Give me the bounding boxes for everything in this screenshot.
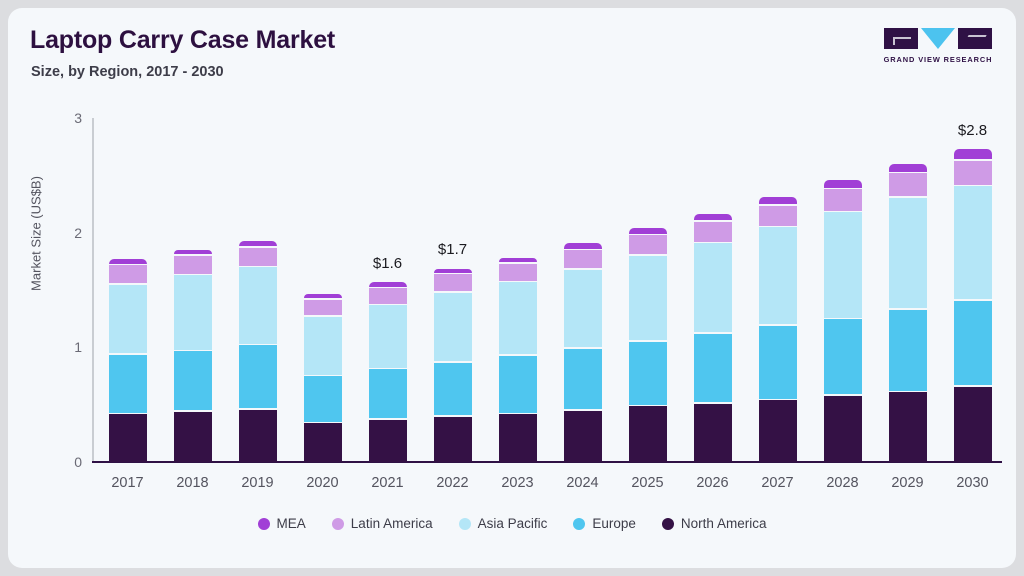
bar-segment[interactable] [369,288,407,304]
x-axis-tick-label: 2030 [938,475,1008,491]
bar-segment[interactable] [629,406,667,462]
bar-segment[interactable] [369,420,407,462]
bar-segment[interactable] [954,387,992,462]
bar-segment[interactable] [109,285,147,353]
bar-segment[interactable] [759,197,797,204]
x-axis-tick-label: 2018 [158,475,228,491]
bar-segment[interactable] [434,417,472,463]
bar-segment[interactable] [629,256,667,341]
y-axis-tick-label: 0 [48,454,82,470]
legend-item[interactable]: North America [662,516,767,531]
bar-segment[interactable] [694,222,732,242]
bar-segment[interactable] [239,267,277,343]
bar-segment[interactable] [564,411,602,462]
legend-label: MEA [277,516,306,531]
bar-segment[interactable] [434,363,472,415]
bar-segment[interactable] [954,186,992,299]
legend-label: Latin America [351,516,433,531]
bar-segment[interactable] [629,228,667,233]
bar-segment[interactable] [824,396,862,462]
bar-segment[interactable] [369,369,407,418]
bar-segment[interactable] [694,243,732,332]
y-axis-title: Market Size (US$B) [29,134,44,334]
bar-segment[interactable] [239,248,277,266]
bar-segment[interactable] [824,319,862,394]
bar-segment[interactable] [434,293,472,361]
x-axis-tick-label: 2026 [678,475,748,491]
bar-segment[interactable] [759,206,797,226]
bar-segment[interactable] [889,198,927,309]
bar-segment[interactable] [499,356,537,413]
legend-swatch-icon [258,518,270,530]
x-axis-tick-label: 2024 [548,475,618,491]
legend-item[interactable]: MEA [258,516,306,531]
x-axis-tick-label: 2020 [288,475,358,491]
bar-segment[interactable] [109,265,147,283]
plot-area: $1.6$1.7$2.8 [92,118,1002,462]
bar-segment[interactable] [239,241,277,246]
bar-segment[interactable] [304,317,342,375]
bar-segment[interactable] [954,301,992,386]
bar-segment[interactable] [499,258,537,262]
x-axis-tick-label: 2019 [223,475,293,491]
x-axis-tick-label: 2022 [418,475,488,491]
bar-segment[interactable] [109,355,147,413]
legend-item[interactable]: Europe [573,516,636,531]
bar-segment[interactable] [434,274,472,291]
legend-label: Europe [592,516,636,531]
stacked-bar-chart: Market Size (US$B) 0123 $1.6$1.7$2.8 201… [8,8,1016,568]
bar-segment[interactable] [304,300,342,316]
bar-segment[interactable] [694,334,732,402]
legend-label: North America [681,516,767,531]
bar-segment[interactable] [889,164,927,172]
bar-segment[interactable] [174,250,212,254]
bar-segment[interactable] [629,342,667,405]
bar-segment[interactable] [434,269,472,273]
bar-segment[interactable] [694,214,732,221]
bar-segment[interactable] [499,282,537,354]
bar-segment[interactable] [629,235,667,254]
bar-value-label: $1.7 [438,241,467,258]
legend-item[interactable]: Asia Pacific [459,516,548,531]
bar-segment[interactable] [889,310,927,391]
bar-segment[interactable] [824,180,862,188]
bar-segment[interactable] [824,189,862,210]
bar-segment[interactable] [564,270,602,348]
x-axis-tick-label: 2027 [743,475,813,491]
bar-segment[interactable] [824,212,862,317]
x-axis-tick-label: 2029 [873,475,943,491]
bar-segment[interactable] [304,423,342,462]
legend-swatch-icon [573,518,585,530]
bar-segment[interactable] [759,326,797,399]
x-axis-tick-label: 2021 [353,475,423,491]
bar-segment[interactable] [304,376,342,422]
y-axis-tick-label: 1 [48,339,82,355]
bar-segment[interactable] [109,414,147,462]
bar-segment[interactable] [499,264,537,281]
bar-segment[interactable] [304,294,342,298]
bar-segment[interactable] [174,275,212,349]
legend-label: Asia Pacific [478,516,548,531]
y-axis-tick-label: 3 [48,110,82,126]
bar-segment[interactable] [239,410,277,462]
x-axis-tick-label: 2023 [483,475,553,491]
bar-segment[interactable] [889,173,927,196]
legend-item[interactable]: Latin America [332,516,433,531]
bar-segment[interactable] [564,243,602,248]
chart-card: Laptop Carry Case Market Size, by Region… [8,8,1016,568]
y-axis-tick-label: 2 [48,225,82,241]
bar-segment[interactable] [499,414,537,462]
bar-segment[interactable] [889,392,927,462]
bar-segment[interactable] [369,282,407,286]
bar-segment[interactable] [759,400,797,462]
legend-swatch-icon [662,518,674,530]
bar-segment[interactable] [109,259,147,263]
bar-segment[interactable] [564,250,602,268]
legend-swatch-icon [332,518,344,530]
chart-legend: MEALatin AmericaAsia PacificEuropeNorth … [8,516,1016,531]
bar-segment[interactable] [694,404,732,462]
bar-segment[interactable] [174,256,212,274]
bar-segment[interactable] [954,149,992,159]
bar-value-label: $1.6 [373,255,402,272]
x-axis-tick-label: 2025 [613,475,683,491]
x-axis-tick-label: 2028 [808,475,878,491]
bar-segment[interactable] [759,227,797,324]
x-axis-tick-label: 2017 [93,475,163,491]
bar-value-label: $2.8 [958,122,987,139]
bar-segment[interactable] [174,412,212,462]
bar-segment[interactable] [174,351,212,410]
legend-swatch-icon [459,518,471,530]
bar-segment[interactable] [564,349,602,409]
bar-segment[interactable] [239,345,277,408]
bar-segment[interactable] [954,161,992,185]
bar-segment[interactable] [369,305,407,368]
